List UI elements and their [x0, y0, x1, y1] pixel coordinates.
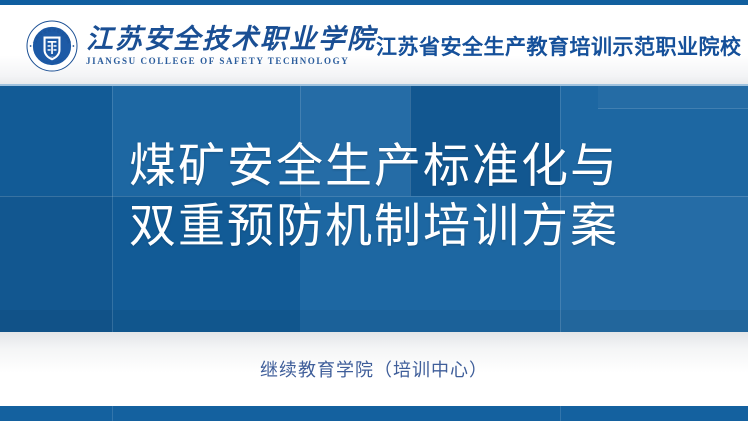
bg-seam — [112, 406, 113, 421]
bg-seam — [560, 406, 561, 421]
title-line-2: 双重预防机制培训方案 — [129, 196, 619, 256]
svg-text:1958: 1958 — [49, 55, 56, 59]
title-slide: 江苏安全技术职业学院 COLLEGE OF SAFETY 1958 江苏安全技术… — [0, 0, 748, 421]
school-name-chinese: 江苏安全技术职业学院 — [86, 25, 376, 53]
slide-footer: 继续教育学院（培训中心） — [0, 332, 748, 406]
slide-title: 煤矿安全生产标准化与 双重预防机制培训方案 — [0, 86, 748, 332]
subtitle-text: 继续教育学院（培训中心） — [260, 356, 488, 382]
school-name-english: JIANGSU COLLEGE OF SAFETY TECHNOLOGY — [86, 56, 376, 66]
bottom-accent-bar — [0, 406, 748, 421]
header-tagline: 江苏省安全生产教育培训示范职业院校 — [376, 31, 742, 61]
slide-body: 煤矿安全生产标准化与 双重预防机制培训方案 — [0, 86, 748, 332]
slide-header: 江苏安全技术职业学院 COLLEGE OF SAFETY 1958 江苏安全技术… — [0, 5, 748, 86]
school-seal-logo-icon: 江苏安全技术职业学院 COLLEGE OF SAFETY 1958 — [26, 20, 78, 72]
school-name-block: 江苏安全技术职业学院 JIANGSU COLLEGE OF SAFETY TEC… — [86, 25, 376, 66]
title-line-1: 煤矿安全生产标准化与 — [129, 136, 619, 196]
